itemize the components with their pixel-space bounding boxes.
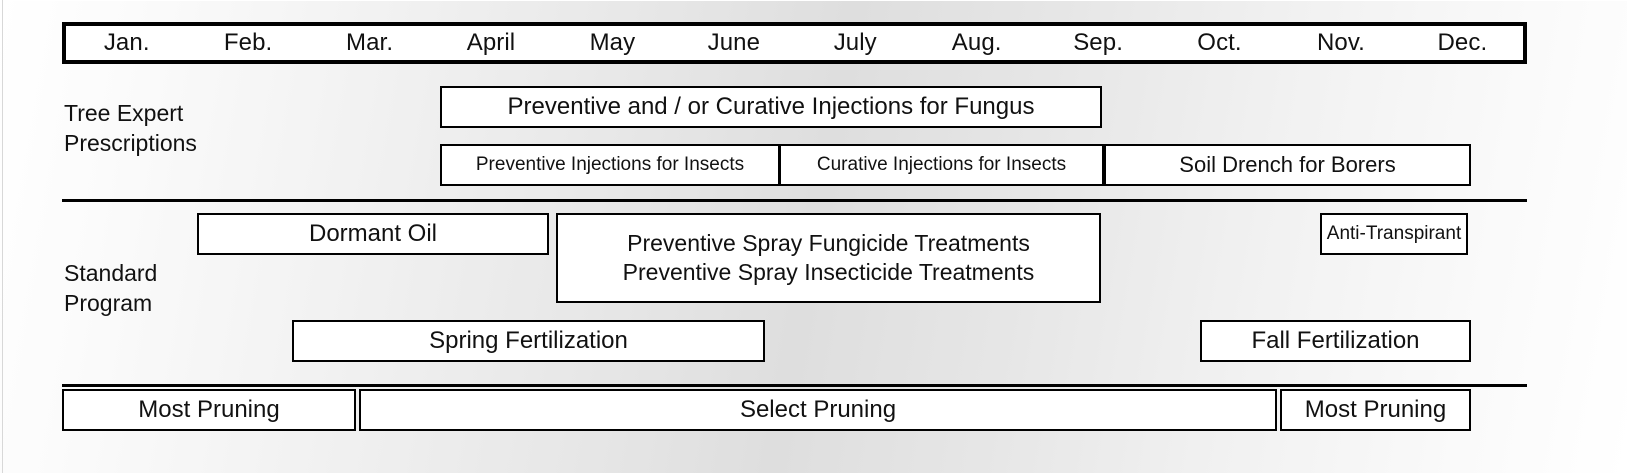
bar-preventive-spray-fungicide-label: Preventive Spray Fungicide Treatments <box>558 229 1099 258</box>
tree-care-timeline-chart: Jan. Feb. Mar. April May June July Aug. … <box>0 0 1627 473</box>
month-cell-oct: Oct. <box>1159 26 1280 60</box>
row-label-standard-program: Standard Program <box>64 258 157 319</box>
month-cell-sep: Sep. <box>1037 26 1158 60</box>
bar-curative-insect-injections: Curative Injections for Insects <box>779 144 1104 186</box>
month-cell-dec: Dec. <box>1402 26 1523 60</box>
month-cell-aug: Aug. <box>916 26 1037 60</box>
section-divider-upper <box>62 199 1527 202</box>
section-divider-lower <box>62 384 1527 387</box>
bar-fall-fertilization: Fall Fertilization <box>1200 320 1471 362</box>
month-cell-april: April <box>430 26 551 60</box>
month-cell-feb: Feb. <box>187 26 308 60</box>
bar-spring-fertilization: Spring Fertilization <box>292 320 765 362</box>
month-cell-mar: Mar. <box>309 26 430 60</box>
month-cell-nov: Nov. <box>1280 26 1401 60</box>
month-cell-june: June <box>673 26 794 60</box>
bar-select-pruning: Select Pruning <box>359 389 1277 431</box>
month-cell-jan: Jan. <box>66 26 187 60</box>
month-cell-may: May <box>552 26 673 60</box>
month-header-bar: Jan. Feb. Mar. April May June July Aug. … <box>62 22 1527 64</box>
bar-fungus-injections: Preventive and / or Curative Injections … <box>440 86 1102 128</box>
bar-preventive-insect-injections: Preventive Injections for Insects <box>440 144 780 186</box>
row-label-tree-expert-prescriptions: Tree Expert Prescriptions <box>64 98 197 159</box>
bar-anti-transpirant: Anti-Transpirant <box>1320 213 1468 255</box>
bar-most-pruning-late: Most Pruning <box>1280 389 1471 431</box>
page-edge-left <box>2 0 3 473</box>
month-cell-july: July <box>795 26 916 60</box>
bar-preventive-spray-treatments: Preventive Spray Fungicide Treatments Pr… <box>556 213 1101 303</box>
bar-soil-drench-for-borers: Soil Drench for Borers <box>1104 144 1471 186</box>
bar-preventive-spray-insecticide-label: Preventive Spray Insecticide Treatments <box>558 258 1099 287</box>
page-edge-top <box>0 0 1627 1</box>
bar-most-pruning-early: Most Pruning <box>62 389 356 431</box>
bar-dormant-oil: Dormant Oil <box>197 213 549 255</box>
